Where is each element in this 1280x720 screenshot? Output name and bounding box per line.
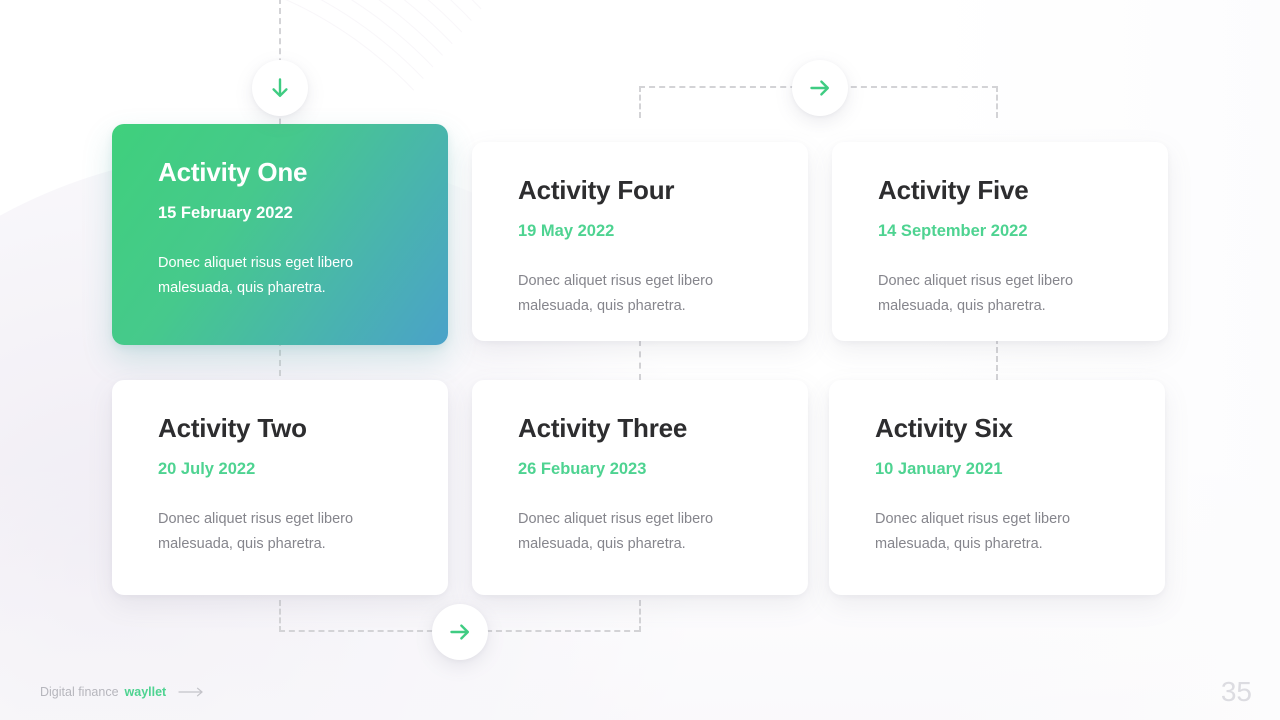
footer-brand-text: Digital finance: [40, 686, 119, 699]
activity-card-four[interactable]: Activity Four 19 May 2022 Donec aliquet …: [472, 142, 808, 341]
card-description: Donec aliquet risus eget libero malesuad…: [518, 269, 748, 319]
card-date: 10 January 2021: [875, 460, 1119, 478]
page-number: 35: [1221, 678, 1252, 706]
flow-node-down-left[interactable]: [252, 60, 308, 116]
card-title: Activity Four: [518, 176, 762, 205]
card-description: Donec aliquet risus eget libero malesuad…: [878, 269, 1108, 319]
card-title: Activity Two: [158, 414, 402, 443]
connector-stub-bottom-left: [279, 600, 281, 632]
card-title: Activity Three: [518, 414, 762, 443]
activity-card-three[interactable]: Activity Three 26 Febuary 2023 Donec ali…: [472, 380, 808, 595]
connector-vertical-right: [996, 338, 998, 380]
background-arc-lines: [0, 0, 690, 720]
card-description: Donec aliquet risus eget libero malesuad…: [518, 507, 748, 557]
background-decoration: [0, 0, 1280, 720]
card-description: Donec aliquet risus eget libero malesuad…: [875, 507, 1105, 557]
flow-node-right-top[interactable]: [792, 60, 848, 116]
flow-node-right-bottom[interactable]: [432, 604, 488, 660]
card-date: 15 February 2022: [158, 204, 402, 222]
slide-canvas: Activity One 15 February 2022 Donec aliq…: [0, 0, 1280, 720]
footer-brand: Digital finance wayllet: [40, 686, 204, 699]
arrow-down-icon: [267, 75, 293, 101]
activity-card-five[interactable]: Activity Five 14 September 2022 Donec al…: [832, 142, 1168, 341]
card-date: 14 September 2022: [878, 222, 1122, 240]
background-right-fade: [920, 0, 1280, 720]
card-title: Activity Five: [878, 176, 1122, 205]
card-description: Donec aliquet risus eget libero malesuad…: [158, 251, 388, 301]
card-description: Donec aliquet risus eget libero malesuad…: [158, 507, 388, 557]
activity-card-one[interactable]: Activity One 15 February 2022 Donec aliq…: [112, 124, 448, 345]
connector-stub-top-left: [639, 86, 641, 118]
card-date: 26 Febuary 2023: [518, 460, 762, 478]
connector-stub-bottom-right: [639, 600, 641, 632]
card-title: Activity Six: [875, 414, 1119, 443]
arrow-right-icon: [807, 75, 833, 101]
arrow-right-icon: [447, 619, 473, 645]
footer-brand-name: wayllet: [125, 686, 167, 699]
connector-vertical-middle: [639, 340, 641, 380]
arrow-right-icon: [178, 687, 204, 697]
connector-stub-top-right: [996, 86, 998, 118]
activity-card-six[interactable]: Activity Six 10 January 2021 Donec aliqu…: [829, 380, 1165, 595]
card-title: Activity One: [158, 158, 402, 187]
card-date: 20 July 2022: [158, 460, 402, 478]
card-date: 19 May 2022: [518, 222, 762, 240]
activity-card-two[interactable]: Activity Two 20 July 2022 Donec aliquet …: [112, 380, 448, 595]
